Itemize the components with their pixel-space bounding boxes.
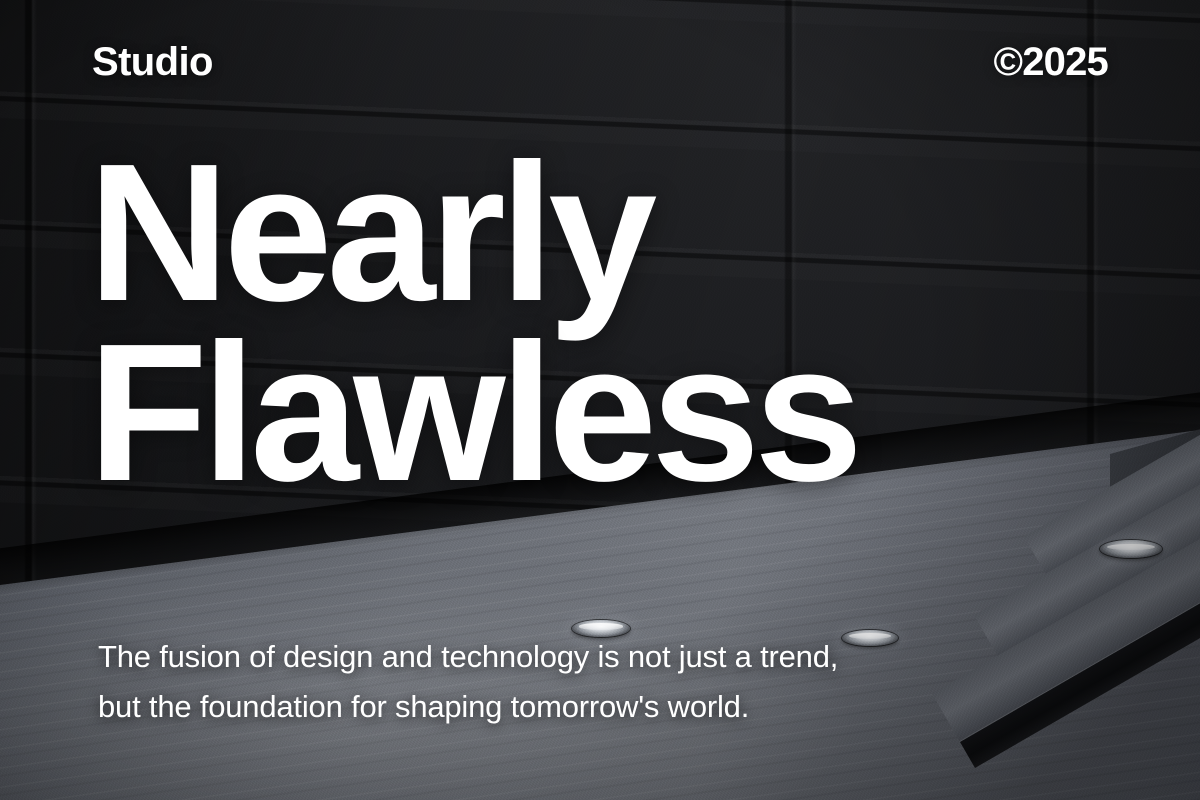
headline: Nearly Flawless (88, 140, 1128, 506)
top-bar: Studio ©2025 (0, 42, 1200, 82)
poster-canvas: Studio ©2025 Nearly Flawless The fusion … (0, 0, 1200, 800)
subcopy-line-2: but the foundation for shaping tomorrow'… (98, 682, 998, 732)
headline-line-2: Flawless (88, 320, 1128, 506)
poster-content: Studio ©2025 Nearly Flawless The fusion … (0, 0, 1200, 800)
subcopy-line-1: The fusion of design and technology is n… (98, 632, 998, 682)
headline-line-1: Nearly (88, 140, 1128, 326)
brand-wordmark: Studio (92, 42, 213, 82)
copyright-notice: ©2025 (994, 42, 1108, 82)
subcopy: The fusion of design and technology is n… (98, 632, 998, 732)
